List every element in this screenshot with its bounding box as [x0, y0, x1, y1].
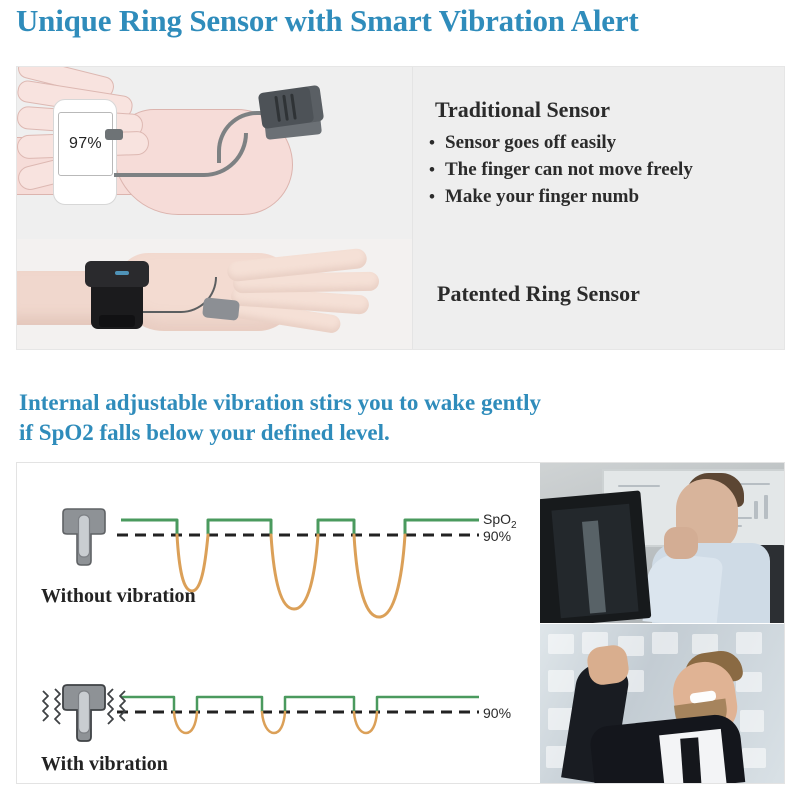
vibration-comparison-panel: SpO2 90% 90% Without vibration With vibr…: [16, 462, 785, 784]
patented-ring-sensor-heading: Patented Ring Sensor: [437, 281, 640, 307]
ring-sensor-vibrating-icon: [43, 685, 125, 741]
header-divider: [0, 52, 800, 53]
vibration-section-heading: Internal adjustable vibration stirs you …: [19, 388, 779, 448]
wrist-device-led-icon: [115, 271, 129, 275]
page-header: Unique Ring Sensor with Smart Vibration …: [0, 0, 800, 52]
clip-detail: [282, 95, 289, 121]
desaturation-dip: [177, 535, 208, 591]
clip-detail: [290, 94, 297, 120]
vibration-wave-right: [108, 689, 113, 724]
desaturation-dip: [354, 535, 405, 617]
building-window: [548, 634, 574, 654]
whiteboard-scribble: [740, 483, 770, 485]
normal-segment: [121, 697, 174, 712]
hand-at-mouth: [664, 527, 698, 559]
vibration-heading-line-2: if SpO2 falls below your defined level.: [19, 418, 779, 448]
vibration-wave-left: [55, 689, 60, 724]
wrist-device-strap: [99, 315, 135, 327]
normal-segment: [121, 520, 177, 535]
whiteboard-scribble: [618, 485, 660, 487]
ring-sensor-photo: [17, 239, 412, 350]
normal-segment: [377, 697, 479, 712]
normal-segment: [318, 520, 354, 535]
page-title: Unique Ring Sensor with Smart Vibration …: [16, 1, 784, 41]
threshold-label-without: 90%: [483, 528, 511, 544]
comparison-illustrations: 97% VS: [17, 67, 412, 350]
normal-segment: [285, 697, 354, 712]
tired-man-yawning-photo: [540, 463, 785, 623]
list-item: Make your finger numb: [429, 183, 785, 210]
spo2-waveform-chart: SpO2 90% 90% Without vibration With vibr…: [17, 463, 540, 783]
arm: [643, 551, 724, 623]
normal-segment: [197, 697, 262, 712]
whiteboard-chart-bar: [754, 501, 758, 519]
vibration-wave-right: [120, 691, 125, 721]
ring-sensor-device: [202, 297, 240, 321]
whiteboard-chart-bar: [764, 495, 768, 519]
list-item: The finger can not move freely: [429, 156, 785, 183]
spo2-subscript: 2: [511, 520, 517, 531]
necktie: [680, 737, 702, 784]
building-window: [742, 748, 766, 768]
comparison-panel: 97% VS: [16, 66, 785, 350]
building-window: [652, 632, 678, 654]
building-window: [548, 670, 574, 692]
chart-caption-without-vibration: Without vibration: [41, 585, 196, 608]
normal-segment: [208, 520, 271, 535]
energized-man-celebrating-photo: [540, 624, 785, 784]
traditional-sensor-illustration: 97% VS: [17, 67, 412, 239]
clip-detail: [274, 96, 281, 122]
traditional-sensor-drawbacks: Sensor goes off easily The finger can no…: [429, 129, 785, 210]
ring-sensor-icon: [63, 509, 105, 565]
product-infographic-page: Unique Ring Sensor with Smart Vibration …: [0, 0, 800, 800]
ring-sensor-inner: [79, 691, 90, 733]
desaturation-dip: [271, 535, 318, 609]
building-window: [740, 710, 764, 732]
smartwatch-screen: 97%: [58, 112, 113, 176]
spo2-reading: 97%: [69, 135, 102, 153]
normal-segment: [405, 520, 479, 535]
building-window: [736, 632, 762, 654]
vibration-wave-left: [43, 691, 48, 721]
ring-sensor-inner: [79, 515, 90, 557]
cable-plug-icon: [105, 129, 123, 140]
spo2-chart-svg: [17, 463, 540, 783]
list-item: Sensor goes off easily: [429, 129, 785, 156]
desaturation-dip: [354, 712, 377, 733]
chart-caption-with-vibration: With vibration: [41, 753, 168, 776]
desaturation-dip: [174, 712, 197, 733]
threshold-label-with: 90%: [483, 705, 511, 721]
comparison-text-column: Traditional Sensor Sensor goes off easil…: [413, 67, 785, 350]
vibration-heading-line-1: Internal adjustable vibration stirs you …: [19, 388, 779, 418]
traditional-sensor-heading: Traditional Sensor: [435, 97, 610, 123]
desaturation-dip: [262, 712, 285, 733]
